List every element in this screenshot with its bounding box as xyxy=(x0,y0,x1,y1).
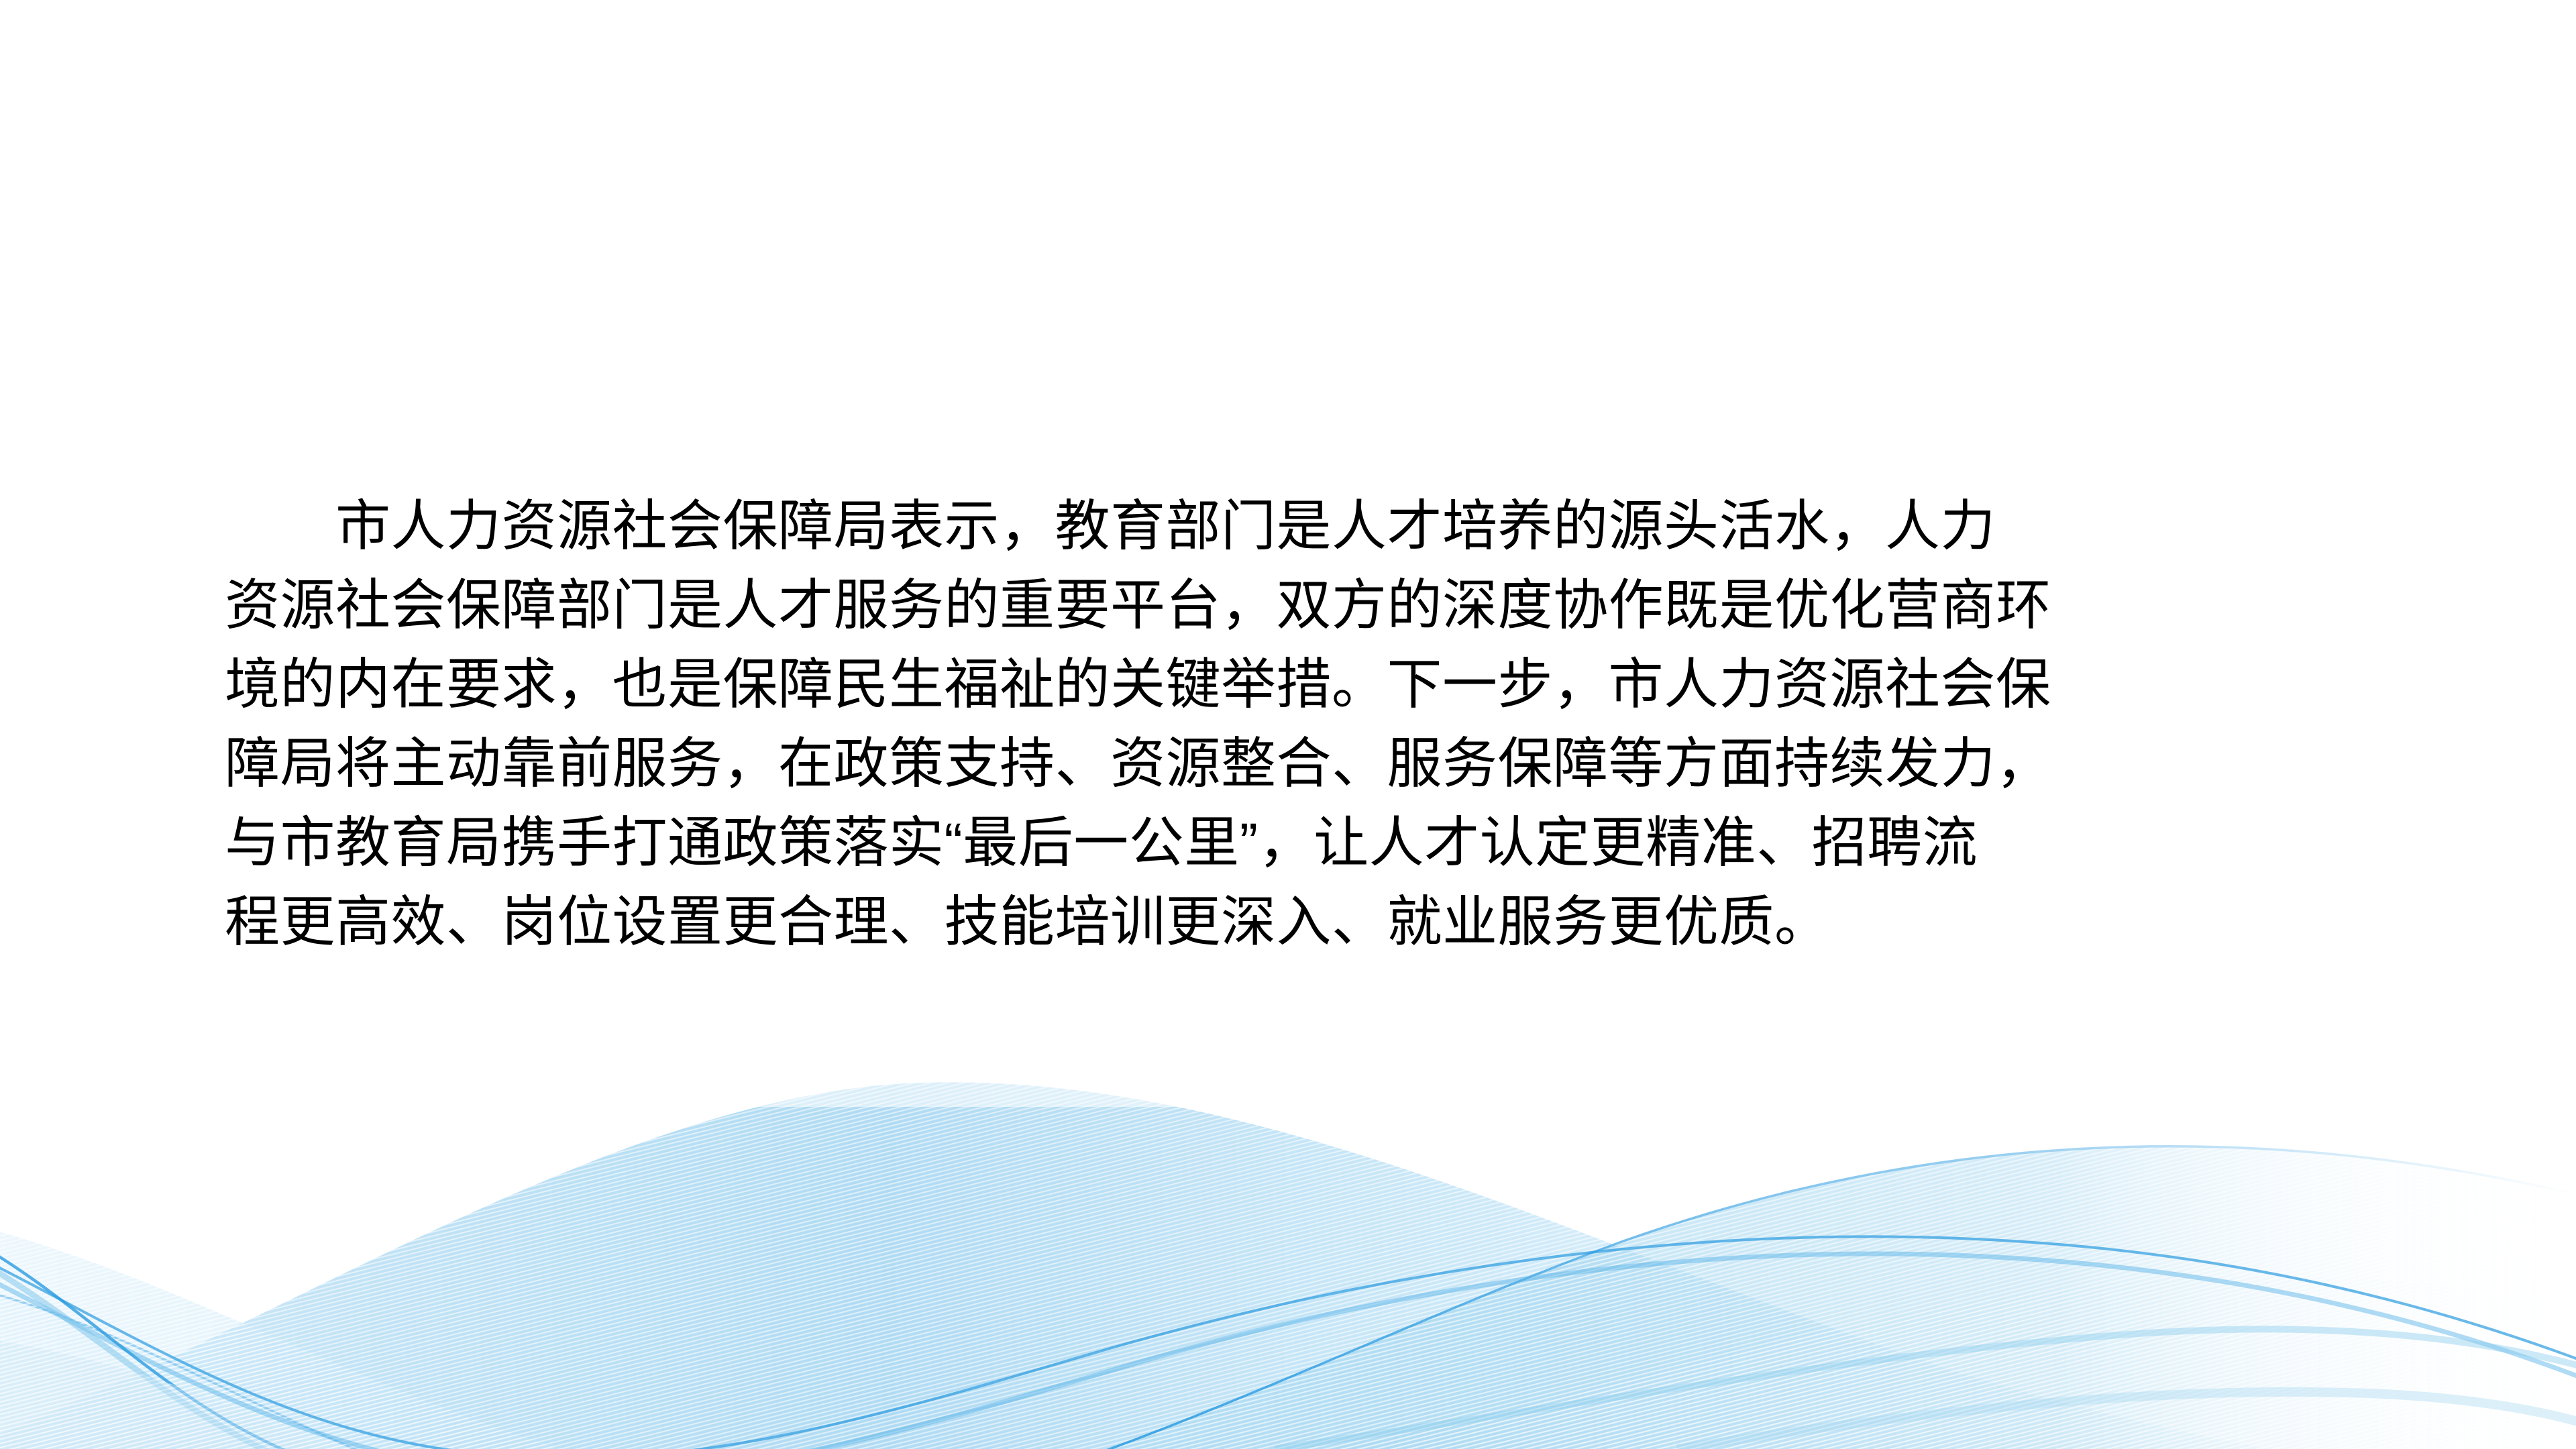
paragraph-line: 障局将主动靠前服务，在政策支持、资源整合、服务保障等方面持续发力， xyxy=(225,724,2358,804)
paragraph-line: 市人力资源社会保障局表示，教育部门是人才培养的源头活水，人力 xyxy=(225,487,2358,566)
paragraph-line: 程更高效、岗位设置更合理、技能培训更深入、就业服务更优质。 xyxy=(225,883,2358,962)
paragraph-line: 境的内在要求，也是保障民生福祉的关键举措。下一步，市人力资源社会保 xyxy=(225,645,2358,724)
body-paragraph: 市人力资源社会保障局表示，教育部门是人才培养的源头活水，人力 资源社会保障部门是… xyxy=(225,487,2358,962)
paragraph-line: 与市教育局携手打通政策落实“最后一公里”，让人才认定更精准、招聘流 xyxy=(225,804,2358,883)
slide-content-area: 市人力资源社会保障局表示，教育部门是人才培养的源头活水，人力 资源社会保障部门是… xyxy=(0,0,2576,1449)
presentation-slide: 市人力资源社会保障局表示，教育部门是人才培养的源头活水，人力 资源社会保障部门是… xyxy=(0,0,2576,1449)
paragraph-line: 资源社会保障部门是人才服务的重要平台，双方的深度协作既是优化营商环 xyxy=(225,566,2358,645)
